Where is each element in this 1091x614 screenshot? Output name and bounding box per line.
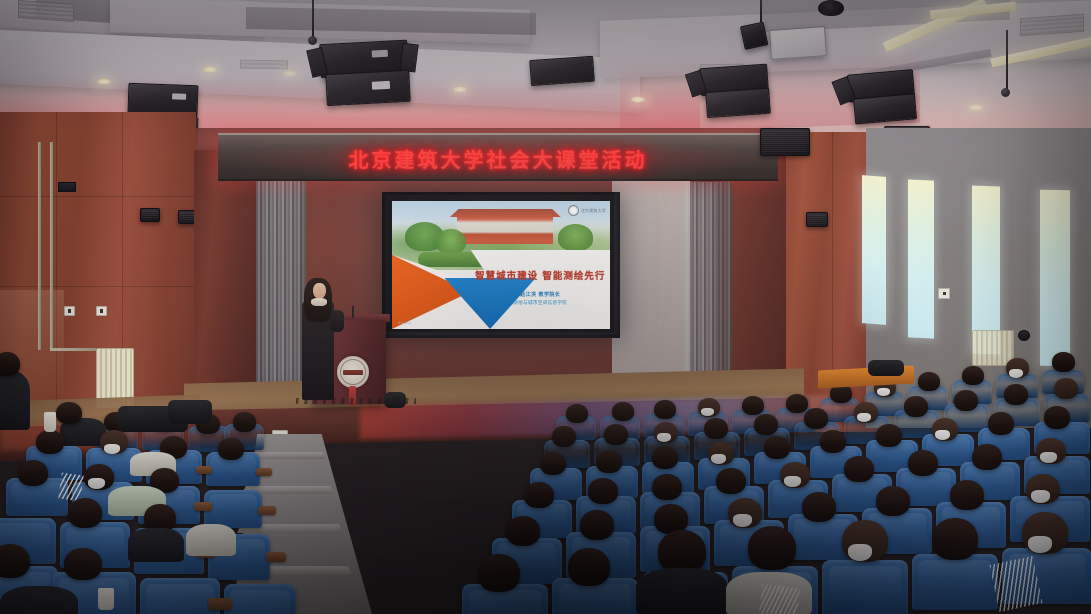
slide-corner-note: BUCEA — [398, 321, 411, 325]
slide-tree-2 — [436, 229, 467, 254]
audience-head — [588, 478, 618, 504]
face-mask — [784, 476, 801, 487]
audience-head — [1052, 352, 1075, 372]
audience-head — [68, 498, 102, 528]
stage-light-left — [127, 83, 196, 115]
stage-curtain-right-outer — [718, 182, 732, 390]
audience-head — [654, 400, 676, 419]
audience-head — [820, 430, 846, 453]
speaker-face — [313, 283, 326, 299]
wall-light-fixture-left-1 — [140, 208, 160, 222]
wall-pipe-horizontal — [50, 348, 96, 351]
university-logo-text: 北京建筑大学 — [581, 208, 606, 214]
led-banner: 北京建筑大学社会大课堂活动 — [218, 133, 778, 181]
slide-affiliation: 测绘与城市空间信息学院 — [484, 300, 597, 306]
illuminated-wall-panel-4 — [1040, 190, 1070, 367]
audience-head — [754, 414, 778, 435]
recessed-downlight-4 — [452, 86, 468, 93]
wall-light-fixture-right — [806, 212, 828, 227]
audience-head — [876, 486, 910, 516]
audience-head — [652, 446, 678, 469]
audience-head — [652, 474, 682, 500]
face-mask — [1040, 452, 1057, 463]
seat-armrest — [258, 506, 276, 515]
slide-title: 智慧城市建设 智能测绘先行 — [475, 268, 606, 282]
audience-shoulder — [0, 586, 78, 614]
sleeve-stripes — [58, 473, 83, 502]
audience-head — [604, 424, 628, 445]
fixture-pendant-1 — [308, 36, 317, 45]
face-mask — [857, 413, 871, 422]
stage-light-right-1c — [705, 88, 769, 116]
audience-head — [580, 510, 614, 540]
audience-head — [36, 430, 64, 454]
sleeve-stripes — [758, 584, 800, 614]
audience-head — [972, 444, 1002, 470]
speaker-arm — [330, 310, 344, 332]
audience-head — [716, 468, 746, 494]
audience-head — [748, 526, 796, 570]
podium-emblem — [337, 356, 369, 388]
face-mask — [733, 514, 752, 527]
audience-head — [218, 438, 244, 460]
wall-outlet-right — [938, 288, 950, 299]
audience-head — [950, 480, 984, 510]
audience-head — [1054, 378, 1078, 399]
recessed-downlight-1 — [96, 78, 112, 85]
audience-head — [566, 404, 588, 423]
audience-head — [802, 492, 836, 522]
audience-head — [612, 402, 634, 421]
seat — [912, 554, 998, 610]
audience-shoulder — [636, 568, 728, 614]
face-mask — [1031, 490, 1050, 503]
wall-seam-3 — [0, 196, 196, 197]
speaker-scarf — [311, 298, 327, 306]
wall-pipe-vertical — [38, 142, 41, 350]
audience-head — [568, 548, 610, 586]
console-equipment — [868, 360, 904, 376]
stage-curtain-left — [256, 160, 306, 392]
podium-microphone — [352, 306, 354, 318]
illuminated-wall-panel-1 — [862, 175, 886, 325]
wall-seam-4 — [0, 286, 196, 287]
seat-armrest — [256, 468, 272, 476]
audience-head — [18, 460, 48, 486]
face-mask — [701, 408, 714, 416]
audience-head — [804, 408, 828, 429]
audience-head — [524, 482, 554, 508]
audience-head — [844, 456, 874, 482]
audience-head — [1004, 384, 1028, 405]
stage-wall-left-pier — [194, 150, 256, 390]
projector-mount — [740, 22, 766, 48]
audience-head — [540, 452, 566, 475]
audience-head — [552, 426, 576, 447]
fixture-rod-2 — [760, 0, 762, 22]
wall-light-fixture-left-3 — [58, 182, 76, 192]
equipment-bag — [168, 400, 212, 424]
seat-armrest — [196, 466, 212, 474]
recessed-downlight-2 — [202, 66, 218, 73]
seat — [204, 490, 262, 528]
slide-tree-3 — [558, 224, 593, 250]
seat — [822, 560, 908, 614]
audience-head — [764, 436, 790, 459]
audience-head — [962, 366, 984, 385]
presentation-slide: 智慧城市建设 智能测绘先行 赵江洪 教学院长 测绘与城市空间信息学院 北京建筑大… — [392, 201, 610, 329]
led-banner-text: 北京建筑大学社会大课堂活动 — [218, 144, 778, 173]
stage-back-surface — [612, 180, 690, 392]
audience-head — [478, 554, 520, 592]
face-mask — [848, 544, 872, 561]
stage-light-right-2b — [853, 93, 915, 122]
paper-cup — [44, 412, 56, 432]
stage-light-center-2 — [325, 70, 408, 104]
slide-building — [457, 212, 553, 244]
face-mask — [88, 478, 105, 489]
seat — [224, 584, 296, 614]
audience-shoulder — [0, 370, 30, 430]
wall-outlet-left-2 — [96, 306, 107, 316]
face-mask — [657, 433, 671, 442]
audience-shoulder — [128, 528, 184, 562]
wall-sensor-right — [1018, 330, 1030, 341]
audience-head — [64, 548, 102, 580]
audience-head — [704, 418, 728, 439]
audience-head — [932, 518, 978, 560]
slide-university-logo: 北京建筑大学 — [568, 205, 606, 216]
audience-head — [908, 450, 938, 476]
audience-head — [1044, 406, 1070, 429]
auditorium-scene: 北京建筑大学社会大课堂活动 智慧城市建设 智能测绘先行 赵江洪 教学院长 测绘与… — [0, 0, 1091, 614]
seat-armrest — [208, 598, 232, 610]
recessed-downlight-3 — [282, 70, 298, 77]
audience-shoulder — [186, 524, 236, 556]
face-mask — [935, 430, 950, 440]
face-mask — [711, 454, 726, 464]
slide-presenter: 赵江洪 教学院长 — [488, 291, 593, 298]
fixture-pendant-3 — [1001, 88, 1010, 97]
wall-speaker-upper-right — [760, 128, 810, 156]
wall-pipe-vertical-2 — [50, 142, 53, 350]
paper-cup — [98, 588, 114, 610]
fixture-rod-1 — [312, 0, 314, 38]
audience-head — [596, 450, 622, 473]
face-mask — [1009, 369, 1023, 378]
audience-head — [233, 412, 256, 432]
dome-camera — [818, 0, 844, 16]
university-logo-mark — [568, 205, 579, 216]
audience-head — [0, 544, 30, 578]
audience-head — [876, 424, 902, 447]
audience-head — [56, 402, 82, 424]
audience-head — [918, 372, 940, 391]
audience-head — [0, 352, 20, 376]
illuminated-wall-panel-2 — [908, 179, 934, 338]
ceiling-projector — [769, 26, 827, 60]
recessed-downlight-8 — [968, 104, 984, 111]
fixture-rod-3 — [1006, 30, 1008, 90]
audience-head — [904, 396, 928, 417]
face-mask — [1028, 536, 1052, 553]
podium-emblem-bar — [343, 370, 362, 375]
face-mask — [104, 444, 120, 454]
audience-head — [988, 412, 1014, 435]
audience-head — [954, 390, 978, 411]
face-mask — [877, 388, 890, 396]
audience-head — [506, 516, 540, 546]
audience-head — [786, 394, 808, 413]
projection-screen: 智慧城市建设 智能测绘先行 赵江洪 教学院长 测绘与城市空间信息学院 北京建筑大… — [382, 192, 620, 338]
seat-armrest — [194, 502, 212, 511]
recessed-downlight-5 — [630, 96, 646, 103]
ac-vent-mid — [240, 60, 288, 70]
ac-vent-left — [18, 0, 74, 22]
seat-armrest — [266, 552, 286, 562]
audience-head — [742, 396, 764, 415]
wall-outlet-left — [64, 306, 75, 316]
stage-light-right-1 — [529, 56, 593, 84]
stage-cables — [296, 398, 416, 404]
